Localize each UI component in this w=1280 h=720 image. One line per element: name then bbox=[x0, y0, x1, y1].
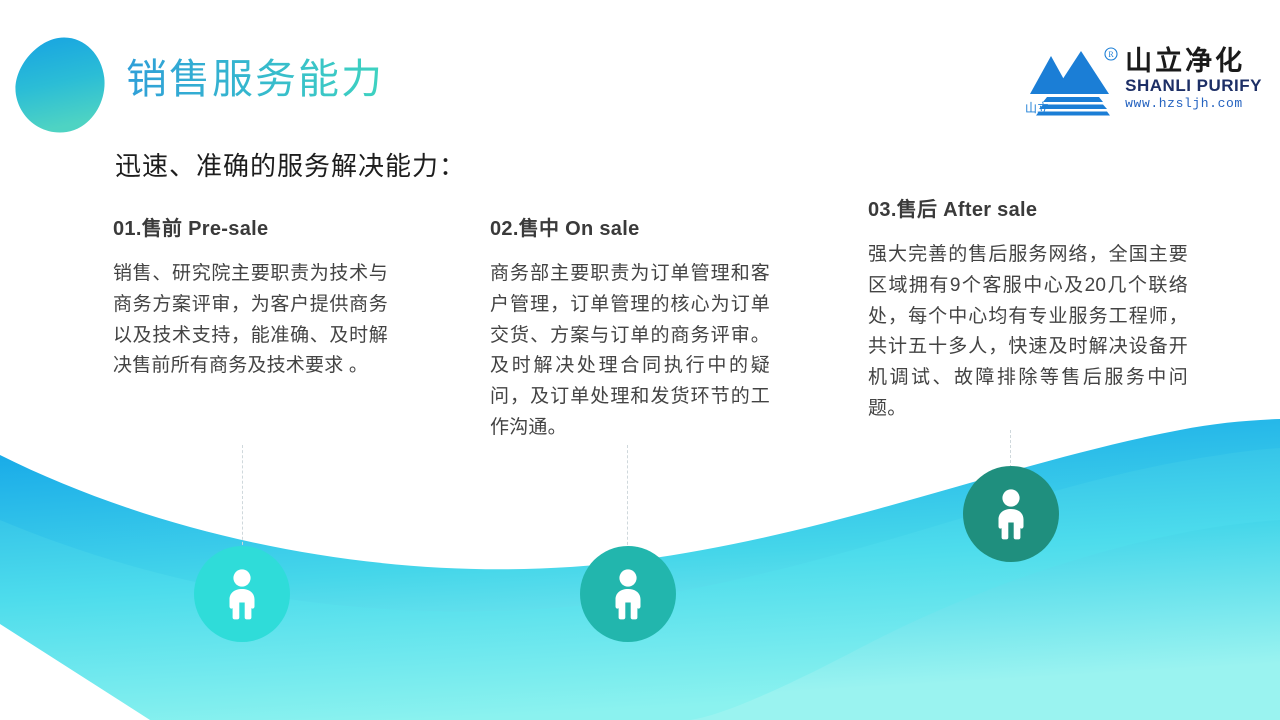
logo-company-cn: 山立净化 bbox=[1125, 48, 1262, 75]
column-body: 销售、研究院主要职责为技术与商务方案评审，为客户提供商务以及技术支持，能准确、及… bbox=[113, 259, 388, 382]
svg-text:R: R bbox=[1108, 50, 1114, 59]
registered-mark-icon: R bbox=[1105, 48, 1117, 60]
page-title: 销售服务能力 bbox=[126, 55, 384, 103]
column-on-sale: 02.售中 On sale 商务部主要职责为订单管理和客户管理，订单管理的核心为… bbox=[490, 212, 770, 444]
person-icon bbox=[991, 488, 1031, 540]
column-heading: 03.售后 After sale bbox=[868, 193, 1188, 222]
person-icon bbox=[608, 568, 648, 620]
logo-company-en: SHANLI PURIFY bbox=[1125, 77, 1262, 94]
column-heading: 02.售中 On sale bbox=[490, 212, 770, 241]
marker-pre-sale[interactable] bbox=[194, 546, 290, 642]
company-logo: R 山立 山立净化 SHANLI PURIFY www.hzsljh.com bbox=[1023, 46, 1262, 116]
column-after-sale: 03.售后 After sale 强大完善的售后服务网络，全国主要区域拥有9个客… bbox=[868, 193, 1188, 425]
connector-line-on-sale bbox=[627, 445, 628, 550]
logo-mark-badge: 山立 bbox=[1025, 100, 1049, 115]
shanli-mountain-logo-icon: R 山立 bbox=[1023, 46, 1119, 116]
logo-website[interactable]: www.hzsljh.com bbox=[1125, 97, 1262, 110]
person-icon bbox=[222, 568, 262, 620]
connector-line-pre-sale bbox=[242, 445, 243, 550]
logo-text-block: 山立净化 SHANLI PURIFY www.hzsljh.com bbox=[1125, 46, 1262, 110]
column-heading: 01.售前 Pre-sale bbox=[113, 212, 388, 241]
column-body: 强大完善的售后服务网络，全国主要区域拥有9个客服中心及20几个联络处，每个中心均… bbox=[868, 240, 1188, 425]
wave-white-wedge bbox=[0, 624, 150, 720]
column-body: 商务部主要职责为订单管理和客户管理，订单管理的核心为订单交货、方案与订单的商务评… bbox=[490, 259, 770, 444]
title-blob bbox=[14, 36, 108, 134]
marker-after-sale[interactable] bbox=[963, 466, 1059, 562]
marker-on-sale[interactable] bbox=[580, 546, 676, 642]
page-subtitle: 迅速、准确的服务解决能力： bbox=[115, 146, 466, 183]
connector-line-after-sale bbox=[1010, 430, 1011, 468]
column-pre-sale: 01.售前 Pre-sale 销售、研究院主要职责为技术与商务方案评审，为客户提… bbox=[113, 212, 388, 382]
slide-root: 销售服务能力 迅速、准确的服务解决能力： R 山立 山立净化 SHANLI PU… bbox=[0, 0, 1280, 720]
